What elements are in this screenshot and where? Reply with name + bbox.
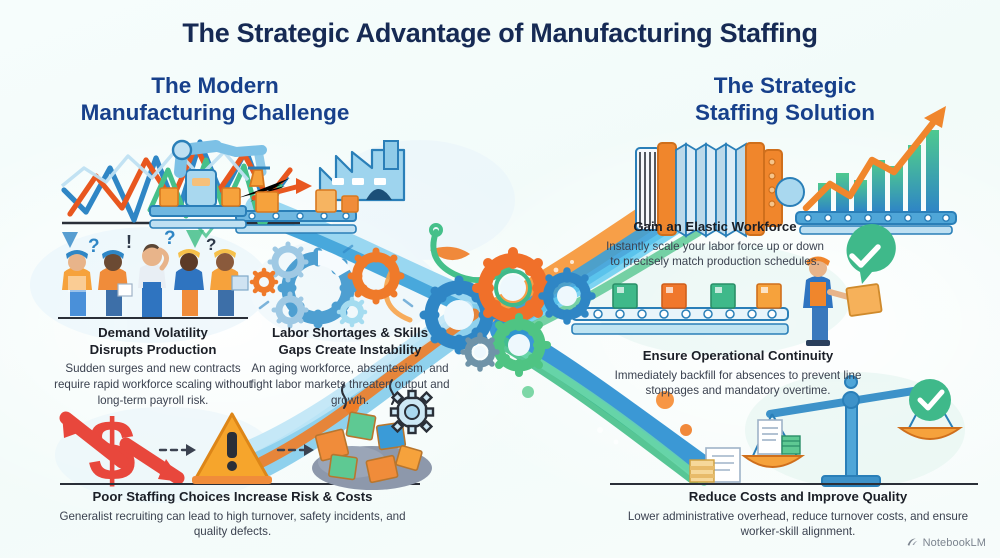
block-reduce-costs: Reduce Costs and Improve Quality Lower a… xyxy=(618,489,978,540)
block-title-line-1: Demand Volatility xyxy=(98,325,208,340)
block-elastic-workforce: Gain an Elastic Workforce Instantly scal… xyxy=(600,219,830,270)
infographic-canvas: ? ! ? ? xyxy=(0,0,1000,558)
right-column-heading: The Strategic Staffing Solution xyxy=(620,73,950,126)
block-labor-shortages: Labor Shortages & Skills Gaps Create Ins… xyxy=(250,325,450,408)
page-title: The Strategic Advantage of Manufacturing… xyxy=(0,18,1000,49)
left-column-heading: The Modern Manufacturing Challenge xyxy=(42,73,388,126)
notebooklm-watermark: NotebookLM xyxy=(906,536,986,549)
block-poor-staffing: Poor Staffing Choices Increase Risk & Co… xyxy=(45,489,420,540)
block-title: Labor Shortages & Skills Gaps Create Ins… xyxy=(250,325,450,358)
block-title-line-2: Disrupts Production xyxy=(90,342,217,357)
block-title: Poor Staffing Choices Increase Risk & Co… xyxy=(45,489,420,506)
text-layer: The Strategic Advantage of Manufacturing… xyxy=(0,0,1000,558)
block-demand-volatility: Demand Volatility Disrupts Production Su… xyxy=(48,325,258,408)
notebooklm-logo-icon xyxy=(906,536,919,549)
block-title-line-1: Labor Shortages & Skills xyxy=(272,325,428,340)
block-title: Demand Volatility Disrupts Production xyxy=(48,325,258,358)
right-heading-line-1: The Strategic xyxy=(714,73,857,98)
block-body: An aging workforce, absenteeism, and fig… xyxy=(250,361,450,408)
block-title: Reduce Costs and Improve Quality xyxy=(618,489,978,506)
block-title: Gain an Elastic Workforce xyxy=(600,219,830,236)
right-heading-line-2: Staffing Solution xyxy=(695,100,875,125)
block-title-line-2: Gaps Create Instability xyxy=(279,342,422,357)
watermark-label: NotebookLM xyxy=(923,537,986,549)
block-operational-continuity: Ensure Operational Continuity Immediatel… xyxy=(598,348,878,399)
block-body: Sudden surges and new contracts require … xyxy=(48,361,258,408)
block-body: Generalist recruiting can lead to high t… xyxy=(45,509,420,541)
block-body: Instantly scale your labor force up or d… xyxy=(600,239,830,271)
left-heading-line-2: Manufacturing Challenge xyxy=(81,100,350,125)
left-heading-line-1: The Modern xyxy=(151,73,279,98)
block-body: Immediately backfill for absences to pre… xyxy=(598,368,878,400)
block-title: Ensure Operational Continuity xyxy=(598,348,878,365)
